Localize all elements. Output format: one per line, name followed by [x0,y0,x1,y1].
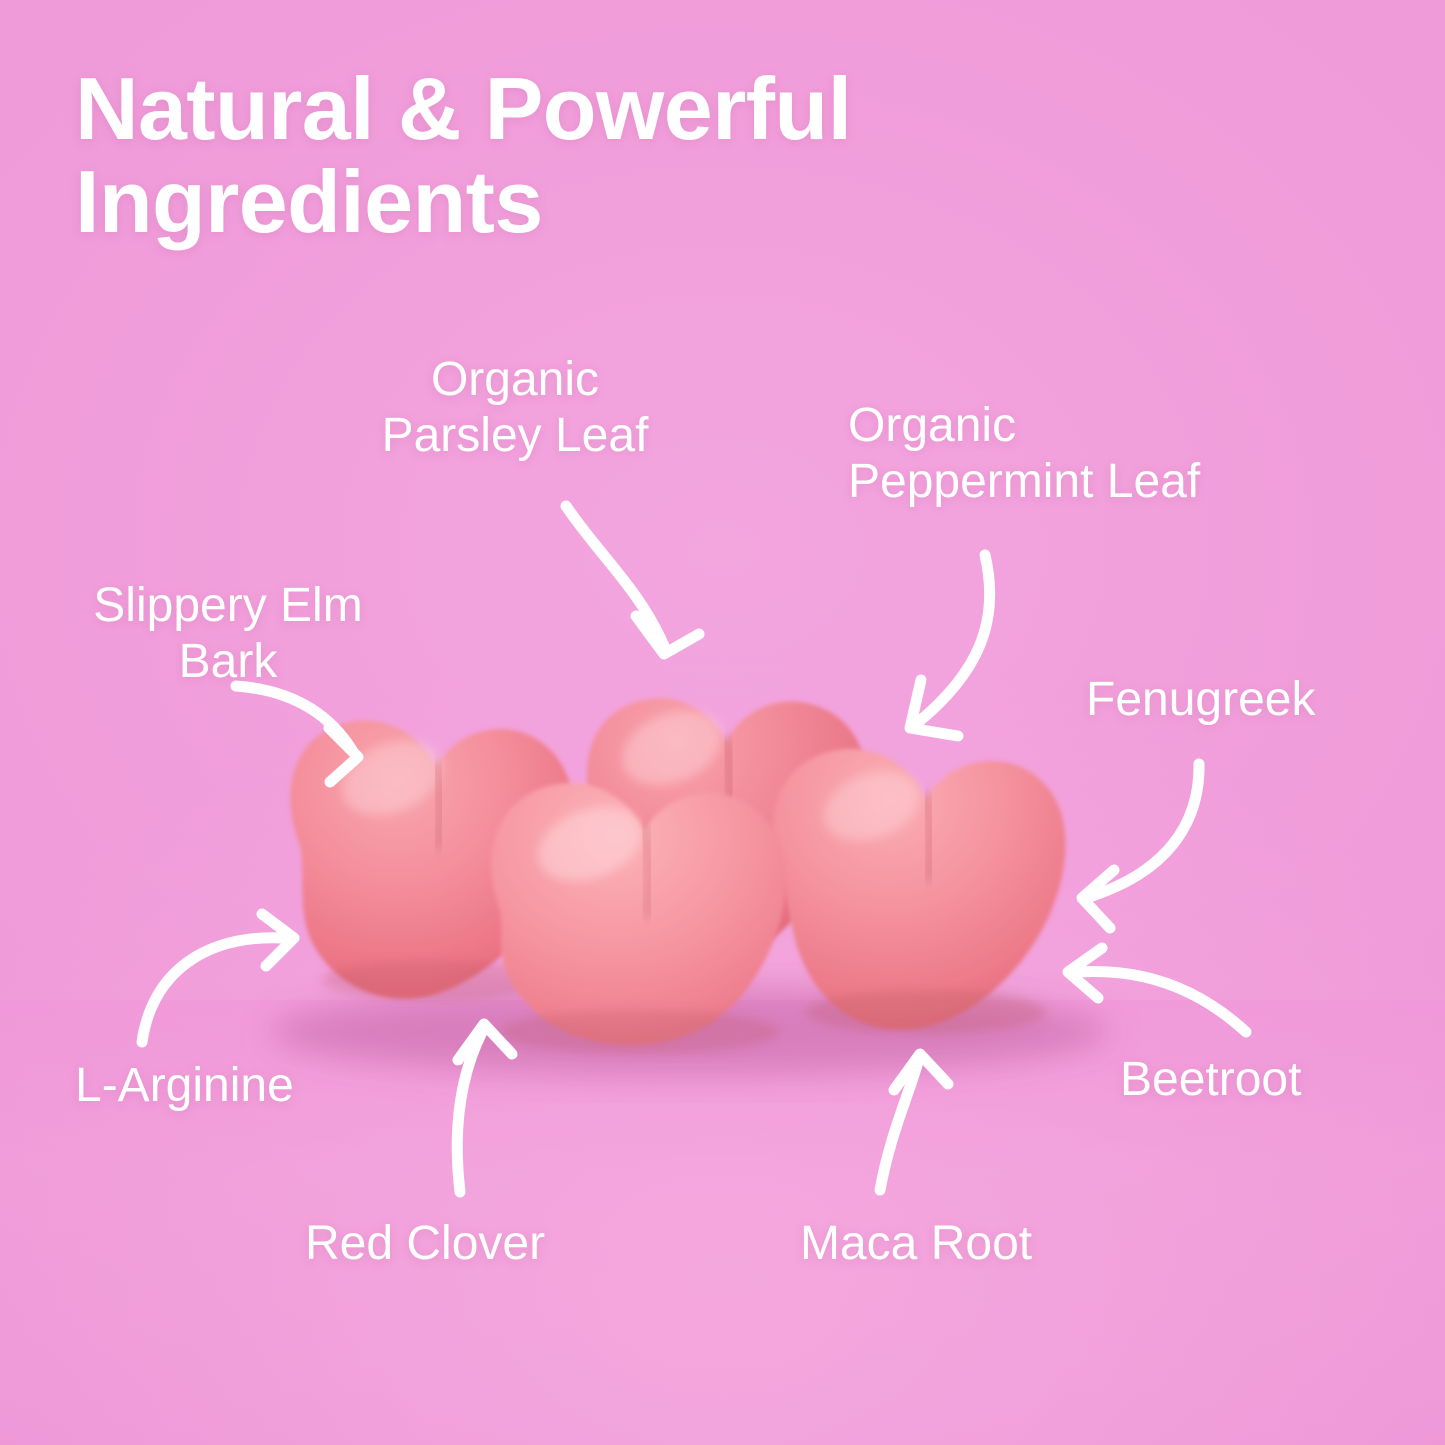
arrow-peppermint [910,555,990,736]
arrow-maca-root [880,1054,948,1190]
arrow-parsley [566,506,699,654]
arrow-slippery-elm [236,686,358,782]
arrow-beetroot [1068,948,1246,1032]
arrow-red-clover [457,1024,512,1192]
ingredient-label-l-arginine: L-Arginine [75,1058,395,1114]
ingredient-label-beetroot: Beetroot [1120,1052,1410,1108]
ingredient-label-organic-parsley-leaf: Organic Parsley Leaf [300,352,730,463]
ingredient-label-slippery-elm-bark: Slippery Elm Bark [18,578,438,689]
arrow-l-arginine [142,914,294,1042]
arrow-fenugreek [1082,764,1199,928]
ingredient-label-maca-root: Maca Root [800,1216,1120,1272]
ingredient-label-organic-peppermint-leaf: Organic Peppermint Leaf [848,398,1368,509]
page-title: Natural & Powerful Ingredients [75,62,1035,249]
ingredients-infographic: Natural & Powerful Ingredients Organic P… [0,0,1445,1445]
ingredient-label-fenugreek: Fenugreek [1086,672,1406,728]
ingredient-label-red-clover: Red Clover [305,1216,635,1272]
